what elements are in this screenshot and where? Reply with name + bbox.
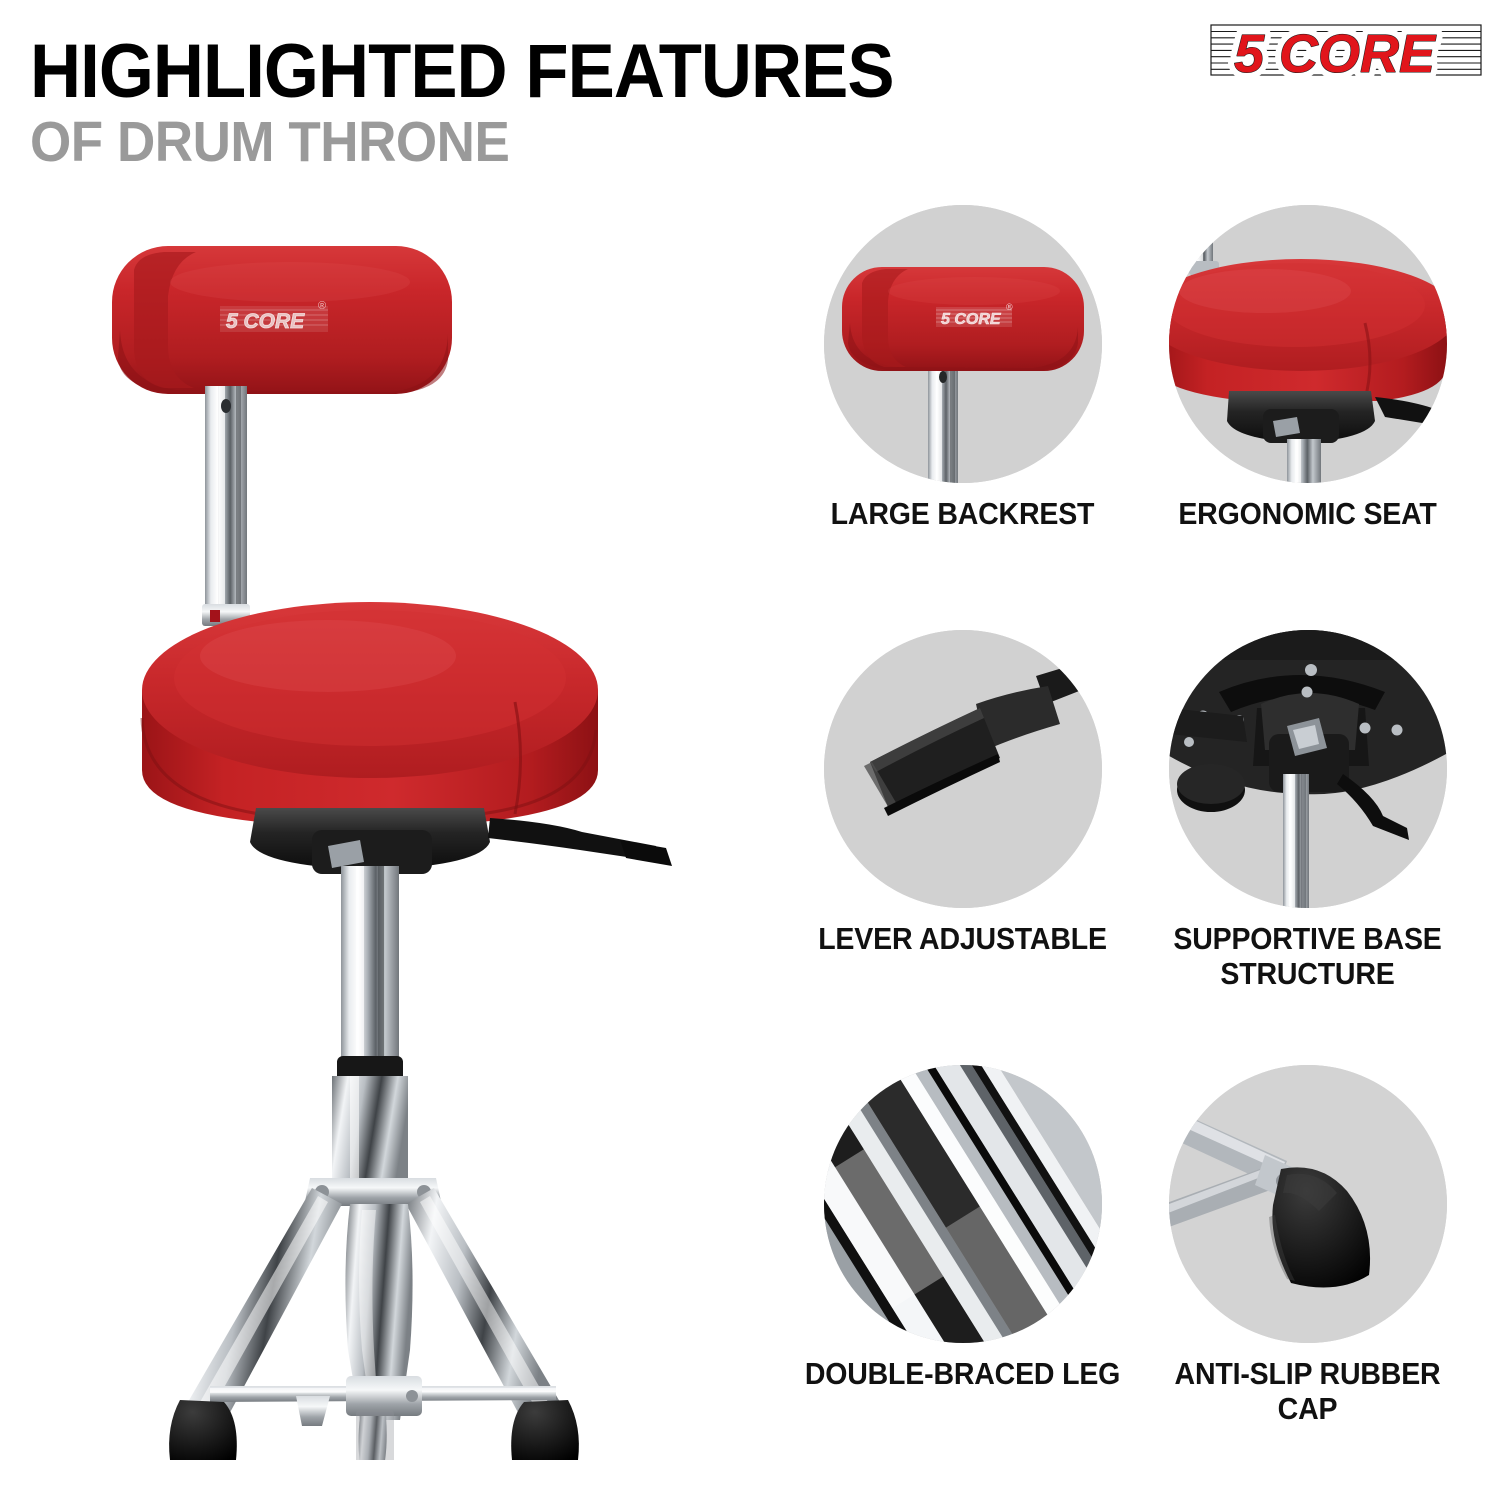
product-seat-cushion — [142, 602, 598, 822]
brand-logo-wordmark: 5 CORE — [1234, 24, 1437, 84]
rubber-cap-closeup-icon — [1169, 1065, 1447, 1343]
feature-anti-slip-rubber-cap[interactable]: ANTI-SLIP RUBBER CAP — [1135, 1065, 1480, 1426]
product-lever-assembly — [250, 808, 672, 874]
rubber-cap-right-icon — [511, 1400, 579, 1460]
page-header: HIGHLIGHTED FEATURES OF DRUM THRONE 5 CO… — [0, 0, 1500, 200]
seat-closeup-icon — [1169, 205, 1447, 483]
feature-label-lever-adjustable: LEVER ADJUSTABLE — [804, 922, 1121, 957]
feature-image-double-braced-leg — [824, 1065, 1102, 1343]
page-title: HIGHLIGHTED FEATURES — [30, 36, 894, 108]
svg-text:5 CORE: 5 CORE — [226, 310, 305, 333]
feature-ergonomic-seat[interactable]: ERGONOMIC SEAT — [1135, 205, 1480, 532]
product-tripod-base — [169, 1178, 579, 1460]
feature-large-backrest[interactable]: 5 CORE ® LARGE BACKREST — [790, 205, 1135, 532]
feature-label-anti-slip-rubber-cap: ANTI-SLIP RUBBER CAP — [1149, 1357, 1466, 1426]
feature-supportive-base-structure[interactable]: SUPPORTIVE BASE STRUCTURE — [1135, 630, 1480, 991]
rubber-cap-left-icon — [169, 1400, 237, 1460]
svg-text:5 CORE: 5 CORE — [941, 311, 1002, 328]
product-backrest: 5 CORE ® — [112, 246, 452, 394]
feature-lever-adjustable[interactable]: LEVER ADJUSTABLE — [790, 630, 1135, 957]
backrest-closeup-icon: 5 CORE ® — [824, 205, 1102, 483]
feature-double-braced-leg[interactable]: DOUBLE-BRACED LEG — [790, 1065, 1135, 1392]
svg-text:®: ® — [1006, 302, 1013, 312]
feature-image-ergonomic-seat — [1169, 205, 1447, 483]
product-hero-image: 5 CORE ® — [60, 210, 760, 1460]
title-block: HIGHLIGHTED FEATURES OF DRUM THRONE — [30, 36, 959, 171]
feature-label-large-backrest: LARGE BACKREST — [804, 497, 1121, 532]
brand-logo: 5 CORE 5 CORE 5 CORE — [1210, 16, 1482, 88]
product-backrest-post — [202, 386, 250, 626]
lever-closeup-icon — [824, 630, 1102, 908]
feature-label-supportive-base: SUPPORTIVE BASE STRUCTURE — [1149, 922, 1466, 991]
brand-logo-icon: 5 CORE 5 CORE 5 CORE — [1210, 16, 1482, 88]
svg-text:®: ® — [318, 300, 326, 312]
base-structure-closeup-icon — [1169, 630, 1447, 908]
feature-image-lever-adjustable — [824, 630, 1102, 908]
feature-image-anti-slip-rubber-cap — [1169, 1065, 1447, 1343]
page-subtitle: OF DRUM THRONE — [30, 114, 894, 171]
features-grid: 5 CORE ® LARGE BACKREST — [790, 205, 1480, 1480]
feature-label-double-braced-leg: DOUBLE-BRACED LEG — [804, 1357, 1121, 1392]
feature-image-supportive-base — [1169, 630, 1447, 908]
feature-image-large-backrest: 5 CORE ® — [824, 205, 1102, 483]
feature-label-ergonomic-seat: ERGONOMIC SEAT — [1149, 497, 1466, 532]
double-braced-leg-closeup-icon — [824, 1065, 1102, 1343]
product-center-column — [332, 866, 408, 1192]
drum-throne-illustration: 5 CORE ® — [60, 210, 760, 1460]
